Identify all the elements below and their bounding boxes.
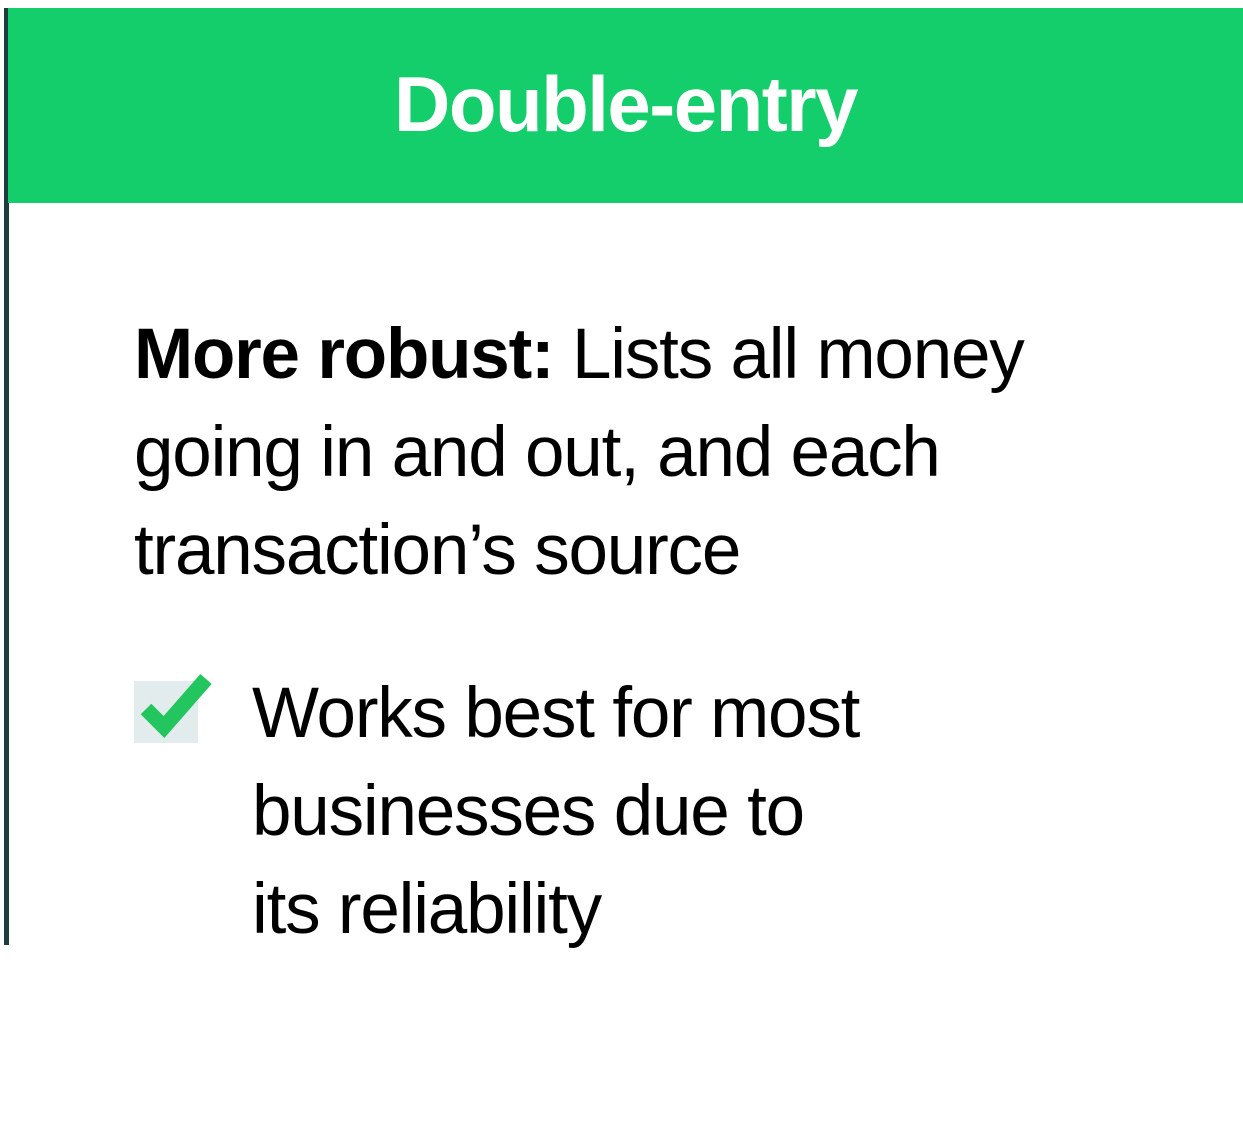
list-item-text: Works best for most businesses due to it… [202,665,1122,959]
list-item: Works best for most businesses due to it… [134,665,1209,959]
card-body: More robust: Lists all money going in an… [0,203,1243,1125]
check-square-icon [134,681,202,749]
card-title: Double-entry [394,65,857,143]
benefit-checklist: Works best for most businesses due to it… [134,665,1209,959]
card-header: Double-entry [8,8,1243,203]
comparison-card: Double-entry More robust: Lists all mone… [0,0,1243,1125]
lead-paragraph-label: More robust: [134,315,553,394]
check-mark-icon [138,669,212,743]
lead-paragraph: More robust: Lists all money going in an… [134,306,1209,600]
